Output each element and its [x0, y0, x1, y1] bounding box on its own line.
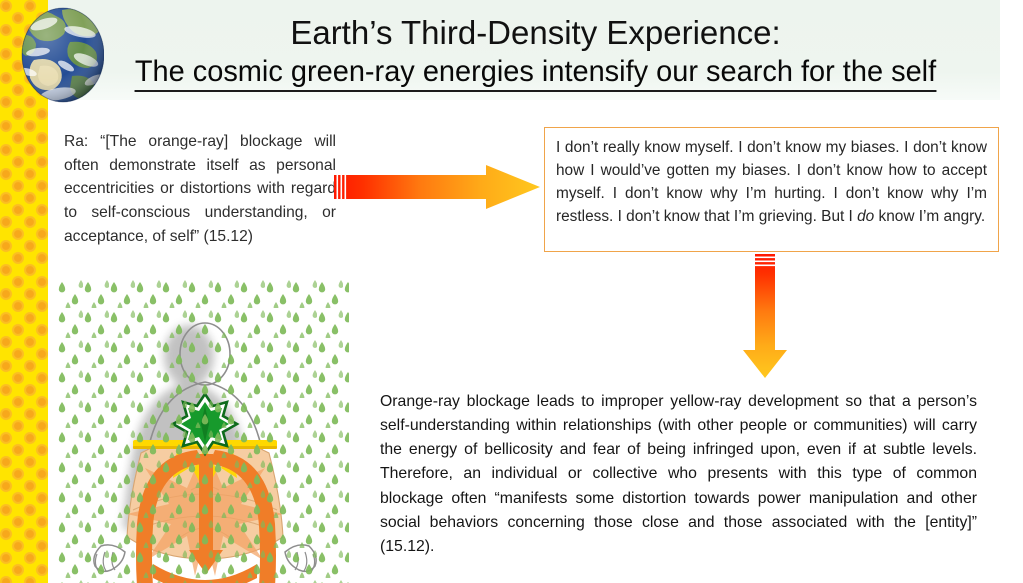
self-inquiry-callout-box: I don’t really know myself. I don’t know… [544, 127, 999, 252]
title-line-2: The cosmic green-ray energies intensify … [65, 49, 1006, 87]
self-inquiry-text: I don’t really know myself. I don’t know… [556, 136, 987, 228]
meditating-figure-green-rain-illustration [57, 278, 349, 583]
slide-canvas: Earth’s Third-Density Experience: The co… [0, 0, 1023, 583]
callout-text-emphasis: do [857, 208, 874, 225]
ra-quote-block: Ra: “[The orange-ray] blockage will ofte… [64, 130, 336, 248]
vertical-gradient-arrow [741, 254, 789, 380]
page-title: Earth’s Third-Density Experience: The co… [48, 0, 1023, 104]
earth-globe-icon [18, 6, 104, 104]
title-line-1: Earth’s Third-Density Experience: [48, 0, 1023, 49]
title-line-2-text: The cosmic green-ray energies intensify … [135, 55, 936, 92]
callout-text-part-2: know I’m angry. [874, 208, 985, 225]
yellow-ray-explanation-paragraph: Orange-ray blockage leads to improper ye… [380, 390, 977, 559]
horizontal-gradient-arrow [334, 163, 542, 211]
